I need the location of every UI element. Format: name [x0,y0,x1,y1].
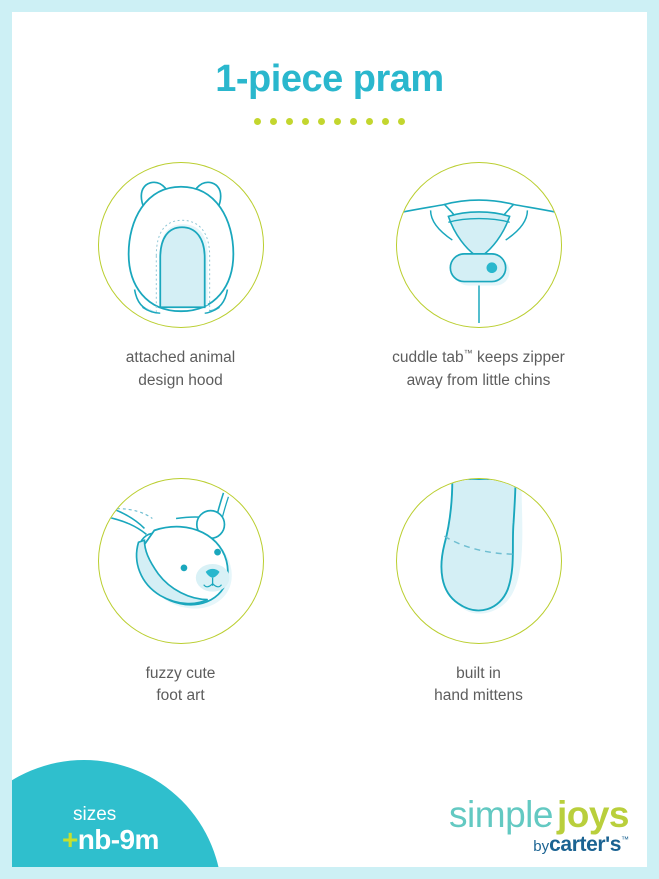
sizes-label: sizes [73,805,159,824]
feature-item-animal-hood: attached animal design hood [81,162,281,393]
bear-foot-art-icon [99,478,263,644]
logo-trademark-symbol: ™ [621,835,629,844]
title-dot-divider [12,118,647,125]
divider-dot [350,118,357,125]
feature-icon-circle [396,162,562,328]
feature-row-top: attached animal design hood [12,162,647,393]
feature-caption-line2: foot art [146,685,216,708]
divider-dot [254,118,261,125]
feature-grid: attached animal design hood [12,162,647,708]
feature-icon-circle [396,478,562,644]
feature-caption-line1: attached animal [126,347,235,370]
divider-dot [302,118,309,125]
logo-carters-text: carter's [549,833,621,856]
feature-item-cuddle-tab: cuddle tab™ keeps zipper away from littl… [379,162,579,393]
brand-logo: simplejoys bycarter's™ [449,796,629,855]
feature-caption-line2: away from little chins [392,370,565,393]
divider-dot [398,118,405,125]
logo-subline: bycarter's™ [449,834,629,855]
sizes-badge-text: sizes +nb-9m [62,805,159,855]
feature-caption-line1: built in [434,663,523,686]
divider-dot [334,118,341,125]
feature-caption-line2: hand mittens [434,685,523,708]
cuddle-tab-text: cuddle tab [392,349,464,366]
sizes-range-value: nb-9m [78,824,159,855]
feature-icon-circle [98,162,264,328]
divider-dot [318,118,325,125]
feature-caption-line1: cuddle tab™ keeps zipper [392,347,565,370]
logo-simple-text: simple [449,794,553,835]
logo-by-text: by [533,838,549,855]
animal-hood-icon [99,162,263,328]
cuddle-tab-collar-icon [397,162,561,328]
logo-wordmark: simplejoys [449,796,629,833]
cuddle-tab-text-post: keeps zipper [473,349,565,366]
feature-item-foot-art: fuzzy cute foot art [81,478,281,709]
divider-dot [270,118,277,125]
divider-dot [366,118,373,125]
hand-mitten-icon [397,478,561,644]
feature-caption: cuddle tab™ keeps zipper away from littl… [392,347,565,393]
infographic-page: 1-piece pram [0,0,659,879]
divider-dot [382,118,389,125]
feature-row-bottom: fuzzy cute foot art [12,478,647,709]
feature-caption: attached animal design hood [126,347,235,393]
infographic-inner-panel: 1-piece pram [12,12,647,867]
feature-item-hand-mittens: built in hand mittens [379,478,579,709]
feature-caption-line1: fuzzy cute [146,663,216,686]
trademark-symbol: ™ [464,348,473,358]
feature-caption-line2: design hood [126,370,235,393]
divider-dot [286,118,293,125]
page-title: 1-piece pram [12,58,647,101]
feature-icon-circle [98,478,264,644]
logo-joys-text: joys [557,794,629,835]
plus-symbol: + [62,824,78,855]
feature-caption: built in hand mittens [434,663,523,709]
sizes-range: +nb-9m [62,824,159,855]
feature-caption: fuzzy cute foot art [146,663,216,709]
